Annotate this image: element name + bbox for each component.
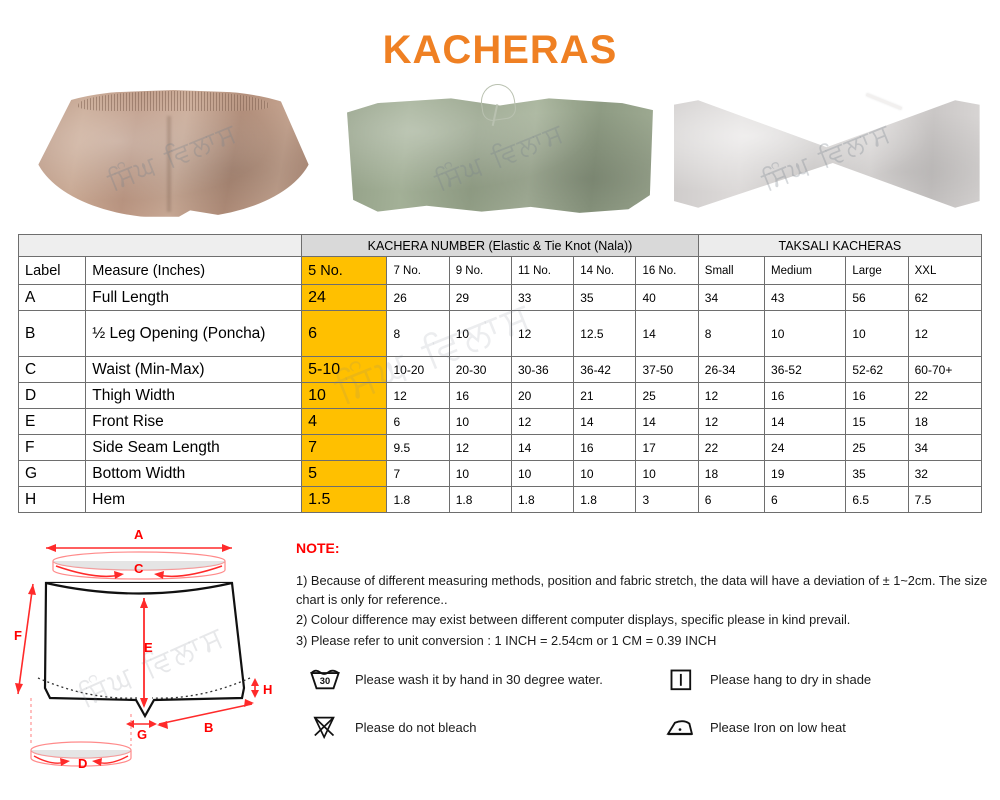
product-photo-tan: ਸਿੰਘ ਵਿਲਾਸ	[14, 82, 333, 228]
row-measure-name: Thigh Width	[86, 383, 302, 409]
row-measure-name: Hem	[86, 487, 302, 513]
cell-value: 1.8	[449, 487, 511, 513]
row-measure-name: Full Length	[86, 285, 302, 311]
table-row: B½ Leg Opening (Poncha)68101212.51481010…	[19, 311, 982, 357]
kachera-center-fold	[167, 116, 171, 212]
diagram-label-e: E	[144, 640, 153, 655]
cell-value: 18	[908, 409, 981, 435]
iron-low-heat-icon	[663, 713, 697, 741]
dimension-a-arrow	[46, 544, 232, 552]
cell-value: 1.8	[574, 487, 636, 513]
cell-value: 12	[698, 409, 764, 435]
cell-value-highlight: 1.5	[302, 487, 387, 513]
cell-value: 14	[511, 435, 573, 461]
do-not-bleach-icon	[308, 713, 342, 741]
cell-value-highlight: 5	[302, 461, 387, 487]
cell-value: 10	[574, 461, 636, 487]
care-item-hang-dry: Please hang to dry in shade	[663, 665, 988, 693]
row-label: C	[19, 357, 86, 383]
cell-value: 1.8	[511, 487, 573, 513]
cell-value: 10-20	[387, 357, 449, 383]
cell-value: 33	[511, 285, 573, 311]
diagram-label-h: H	[263, 682, 272, 697]
cell-value: 8	[698, 311, 764, 357]
cell-value: 12	[449, 435, 511, 461]
cell-value: 56	[846, 285, 908, 311]
care-item-no-bleach: Please do not bleach	[308, 713, 663, 741]
row-label: H	[19, 487, 86, 513]
cell-value: 12	[698, 383, 764, 409]
wash-tub-30-icon: 30	[308, 665, 342, 693]
cell-value: 30-36	[511, 357, 573, 383]
cell-value: 24	[765, 435, 846, 461]
group-header-blank	[19, 235, 302, 257]
bottom-guide-lines	[31, 698, 131, 746]
hang-dry-shade-icon	[663, 665, 697, 693]
cell-value: 43	[765, 285, 846, 311]
product-photo-white: ਸਿੰਘ ਵਿਲਾਸ	[667, 82, 986, 228]
cell-value: 62	[908, 285, 981, 311]
notes-section: NOTE: 1) Because of different measuring …	[296, 540, 996, 652]
col-header-5no[interactable]: 5 No.	[302, 257, 387, 285]
table-row: EFront Rise461012141412141518	[19, 409, 982, 435]
cell-value: 14	[636, 409, 698, 435]
cell-value: 37-50	[636, 357, 698, 383]
row-measure-name: Bottom Width	[86, 461, 302, 487]
care-text-hang-dry: Please hang to dry in shade	[710, 672, 871, 687]
cell-value: 22	[908, 383, 981, 409]
row-label: E	[19, 409, 86, 435]
cell-value: 10	[449, 409, 511, 435]
row-measure-name: Front Rise	[86, 409, 302, 435]
cell-value: 20-30	[449, 357, 511, 383]
care-instructions: 30 Please wash it by hand in 30 degree w…	[308, 655, 988, 751]
cell-value: 16	[846, 383, 908, 409]
cell-value: 18	[698, 461, 764, 487]
cell-value: 12	[387, 383, 449, 409]
cell-value: 1.8	[387, 487, 449, 513]
notes-title: NOTE:	[296, 540, 996, 556]
group-header-taksali: TAKSALI KACHERAS	[698, 235, 981, 257]
col-header-7no[interactable]: 7 No.	[387, 257, 449, 285]
cell-value-highlight: 24	[302, 285, 387, 311]
cell-value: 34	[908, 435, 981, 461]
cell-value: 15	[846, 409, 908, 435]
cell-value: 6	[387, 409, 449, 435]
col-header-9no[interactable]: 9 No.	[449, 257, 511, 285]
cell-value: 52-62	[846, 357, 908, 383]
cell-value: 10	[846, 311, 908, 357]
table-row: GBottom Width571010101018193532	[19, 461, 982, 487]
cell-value: 32	[908, 461, 981, 487]
product-photo-olive: ਸਿੰਘ ਵਿਲਾਸ	[341, 82, 660, 228]
cell-value: 7	[387, 461, 449, 487]
diagram-label-g: G	[137, 727, 147, 742]
cell-value: 16	[574, 435, 636, 461]
cell-value: 8	[387, 311, 449, 357]
cell-value: 60-70+	[908, 357, 981, 383]
table-row: DThigh Width10121620212512161622	[19, 383, 982, 409]
table-row: FSide Seam Length79.51214161722242534	[19, 435, 982, 461]
diagram-label-d: D	[78, 756, 87, 771]
col-header-label: Label	[19, 257, 86, 285]
diagram-label-f: F	[14, 628, 22, 643]
group-header-kachera-number: KACHERA NUMBER (Elastic & Tie Knot (Nala…	[302, 235, 699, 257]
cell-value: 14	[765, 409, 846, 435]
size-chart-table: KACHERA NUMBER (Elastic & Tie Knot (Nala…	[18, 234, 982, 513]
cell-value: 12	[908, 311, 981, 357]
care-text-no-bleach: Please do not bleach	[355, 720, 476, 735]
col-header-large[interactable]: Large	[846, 257, 908, 285]
cell-value: 7.5	[908, 487, 981, 513]
row-label: F	[19, 435, 86, 461]
row-measure-name: Side Seam Length	[86, 435, 302, 461]
product-photo-strip: ਸਿੰਘ ਵਿਲਾਸ ਸਿੰਘ ਵਿਲਾਸ ਸਿੰਘ ਵਿਲਾਸ	[14, 82, 986, 228]
care-item-wash: 30 Please wash it by hand in 30 degree w…	[308, 665, 663, 693]
cell-value: 12.5	[574, 311, 636, 357]
cell-value: 6.5	[846, 487, 908, 513]
cell-value: 12	[511, 409, 573, 435]
cell-value-highlight: 10	[302, 383, 387, 409]
cell-value: 12	[511, 311, 573, 357]
cell-value: 21	[574, 383, 636, 409]
cell-value: 14	[574, 409, 636, 435]
care-text-iron: Please Iron on low heat	[710, 720, 846, 735]
table-row: HHem1.51.81.81.81.83666.57.5	[19, 487, 982, 513]
cell-value: 9.5	[387, 435, 449, 461]
col-header-measure: Measure (Inches)	[86, 257, 302, 285]
size-table-body: AFull Length24262933354034435662B½ Leg O…	[19, 285, 982, 513]
cell-value: 35	[846, 461, 908, 487]
row-measure-name: Waist (Min-Max)	[86, 357, 302, 383]
dimension-h-arrow	[251, 678, 259, 698]
diagram-label-b: B	[204, 720, 213, 735]
cell-value: 6	[698, 487, 764, 513]
cell-value: 34	[698, 285, 764, 311]
row-label: A	[19, 285, 86, 311]
cell-value: 29	[449, 285, 511, 311]
page-title: KACHERAS	[0, 28, 1000, 73]
kachera-white-body	[674, 98, 980, 210]
kachera-elastic-waistband	[78, 91, 269, 111]
col-header-14no[interactable]: 14 No.	[574, 257, 636, 285]
row-label: D	[19, 383, 86, 409]
table-column-header-row: Label Measure (Inches) 5 No. 7 No. 9 No.…	[19, 257, 982, 285]
cell-value: 16	[449, 383, 511, 409]
cell-value: 25	[846, 435, 908, 461]
note-line-2: 2) Colour difference may exist between d…	[296, 611, 996, 630]
cell-value: 36-42	[574, 357, 636, 383]
cell-value: 3	[636, 487, 698, 513]
cell-value: 14	[636, 311, 698, 357]
cell-value: 25	[636, 383, 698, 409]
col-header-xxl[interactable]: XXL	[908, 257, 981, 285]
measurement-diagram: A B C D E F G H ਸਿੰਘ ਵਿਲਾਸ	[4, 528, 289, 796]
cell-value: 10	[449, 461, 511, 487]
note-line-3: 3) Please refer to unit conversion : 1 I…	[296, 632, 996, 651]
row-label: G	[19, 461, 86, 487]
cell-value: 26-34	[698, 357, 764, 383]
cell-value: 6	[765, 487, 846, 513]
diagram-label-a: A	[134, 528, 144, 542]
cell-value: 10	[511, 461, 573, 487]
cell-value-highlight: 6	[302, 311, 387, 357]
col-header-small[interactable]: Small	[698, 257, 764, 285]
cell-value: 10	[636, 461, 698, 487]
cell-value-highlight: 4	[302, 409, 387, 435]
cell-value: 10	[765, 311, 846, 357]
cell-value: 16	[765, 383, 846, 409]
table-group-header-row: KACHERA NUMBER (Elastic & Tie Knot (Nala…	[19, 235, 982, 257]
cell-value-highlight: 7	[302, 435, 387, 461]
cell-value: 40	[636, 285, 698, 311]
col-header-11no[interactable]: 11 No.	[511, 257, 573, 285]
cell-value: 22	[698, 435, 764, 461]
cell-value: 19	[765, 461, 846, 487]
table-row: AFull Length24262933354034435662	[19, 285, 982, 311]
note-line-1: 1) Because of different measuring method…	[296, 572, 996, 609]
care-item-iron: Please Iron on low heat	[663, 713, 988, 741]
cell-value-highlight: 5-10	[302, 357, 387, 383]
cell-value: 17	[636, 435, 698, 461]
kachera-white-tie	[866, 93, 902, 110]
cell-value: 35	[574, 285, 636, 311]
kachera-technical-drawing: A B C D E F G H	[4, 528, 289, 796]
care-text-wash: Please wash it by hand in 30 degree wate…	[355, 672, 603, 687]
cell-value: 20	[511, 383, 573, 409]
row-measure-name: ½ Leg Opening (Poncha)	[86, 311, 302, 357]
diagram-label-c: C	[134, 561, 144, 576]
cell-value: 10	[449, 311, 511, 357]
col-header-16no[interactable]: 16 No.	[636, 257, 698, 285]
cell-value: 26	[387, 285, 449, 311]
cell-value: 36-52	[765, 357, 846, 383]
wash-temp-badge: 30	[320, 676, 330, 686]
size-chart-page: KACHERAS ਸਿੰਘ ਵਿਲਾਸ ਸਿੰਘ ਵਿਲਾਸ ਸਿੰਘ ਵਿਲਾ…	[0, 0, 1000, 800]
row-label: B	[19, 311, 86, 357]
kachera-nala-tie-loop	[479, 82, 518, 122]
table-row: CWaist (Min-Max)5-1010-2020-3030-3636-42…	[19, 357, 982, 383]
col-header-medium[interactable]: Medium	[765, 257, 846, 285]
